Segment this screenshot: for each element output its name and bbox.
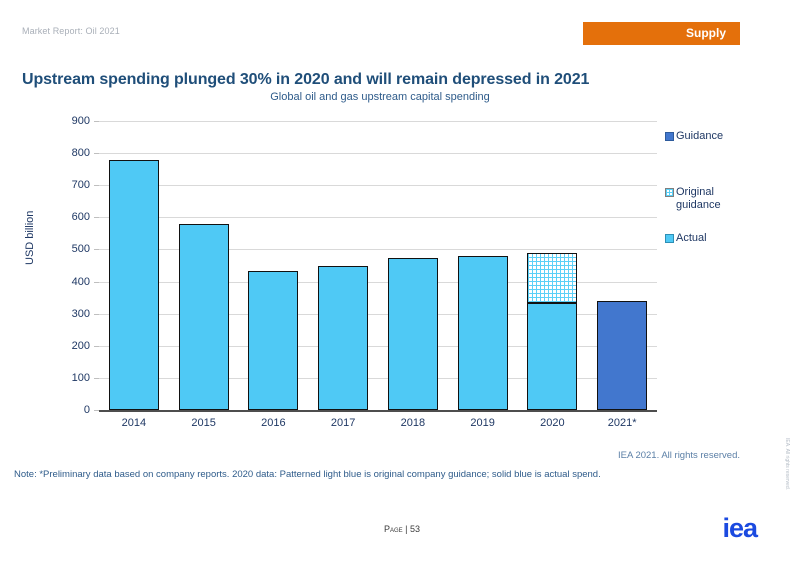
legend-swatch-original-icon <box>665 188 674 197</box>
bar-actual-2014 <box>109 160 159 410</box>
page-number: Page | 53 <box>0 524 804 534</box>
gridline <box>99 217 657 218</box>
y-tick-label: 800 <box>72 147 90 159</box>
x-tick-label-2015: 2015 <box>169 417 239 429</box>
x-tick-label-2021: 2021* <box>587 417 657 429</box>
y-tick-label: 0 <box>84 404 90 416</box>
y-tick-label: 600 <box>72 211 90 223</box>
x-tick-label-2018: 2018 <box>378 417 448 429</box>
y-tick-mark <box>94 314 99 315</box>
y-tick-mark <box>94 153 99 154</box>
x-tick-label-2020: 2020 <box>518 417 588 429</box>
iea-logo: iea <box>722 515 757 542</box>
vertical-rights-notice: IEA. All rights reserved. <box>784 438 790 490</box>
legend-swatch-guidance-icon <box>665 132 674 141</box>
legend-label-original: Original guidance <box>676 186 721 212</box>
chart-footnote: Note: *Preliminary data based on company… <box>14 469 601 480</box>
rights-notice: IEA 2021. All rights reserved. <box>618 450 740 461</box>
legend-label-actual: Actual <box>676 232 707 245</box>
bar-actual-2016 <box>248 271 298 410</box>
bar-actual-2017 <box>318 266 368 411</box>
x-tick-label-2019: 2019 <box>448 417 518 429</box>
x-axis-line <box>99 410 657 412</box>
bar-actual-2020 <box>527 303 577 410</box>
y-tick-label: 500 <box>72 243 90 255</box>
y-tick-mark <box>94 346 99 347</box>
y-tick-label: 300 <box>72 308 90 320</box>
legend-label-guidance: Guidance <box>676 130 723 143</box>
y-axis-title: USD billion <box>24 211 36 265</box>
x-tick-label-2014: 2014 <box>99 417 169 429</box>
bar-actual-2018 <box>388 258 438 410</box>
bar-original-guidance-2020 <box>527 253 577 303</box>
x-tick-label-2017: 2017 <box>308 417 378 429</box>
legend-swatch-actual-icon <box>665 234 674 243</box>
y-tick-label: 400 <box>72 276 90 288</box>
bar-actual-2015 <box>179 224 229 410</box>
legend-item-actual[interactable]: Actual <box>665 232 707 245</box>
bar-actual-2019 <box>458 256 508 410</box>
bar-guidance-2021 <box>597 301 647 410</box>
y-tick-label: 100 <box>72 372 90 384</box>
y-tick-mark <box>94 185 99 186</box>
gridline <box>99 121 657 122</box>
y-tick-mark <box>94 378 99 379</box>
y-tick-mark <box>94 121 99 122</box>
legend-item-guidance[interactable]: Guidance <box>665 130 723 143</box>
y-tick-label: 700 <box>72 179 90 191</box>
gridline <box>99 185 657 186</box>
x-tick-label-2016: 2016 <box>239 417 309 429</box>
legend-item-original[interactable]: Original guidance <box>665 186 721 212</box>
y-tick-mark <box>94 217 99 218</box>
y-tick-label: 200 <box>72 340 90 352</box>
bar-chart: USD billion 0100200300400500600700800900… <box>0 0 804 571</box>
plot-area: 0100200300400500600700800900 20142015201… <box>99 121 657 410</box>
y-tick-mark <box>94 282 99 283</box>
y-tick-label: 900 <box>72 115 90 127</box>
gridline <box>99 153 657 154</box>
y-tick-mark <box>94 249 99 250</box>
